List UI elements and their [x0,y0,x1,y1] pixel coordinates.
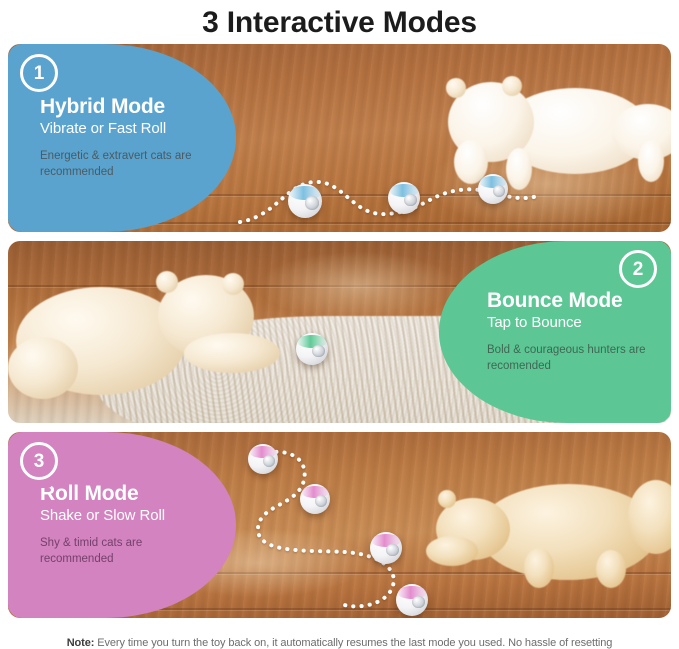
footer-note-text: Every time you turn the toy back on, it … [97,637,612,649]
toy-ball-1a [288,184,322,218]
infographic-root: 3 Interactive Modes [0,0,679,649]
mode-panel-1: Hybrid Mode Vibrate or Fast Roll Energet… [8,44,671,232]
toy-ball-2 [296,333,328,365]
toy-ball-3b [300,484,330,514]
mode-2-description: Bold & courageous hunters are recomended [487,343,665,375]
mode-panels: Hybrid Mode Vibrate or Fast Roll Energet… [0,44,679,618]
footer-note: Note: Every time you turn the toy back o… [0,627,679,649]
page-title: 3 Interactive Modes [0,0,679,44]
mode-panel-2: Bounce Mode Tap to Bounce Bold & courage… [8,241,671,423]
mode-3-description: Shy & timid cats are recommended [40,536,218,568]
mode-1-title: Hybrid Mode [40,95,236,119]
toy-ball-3d [396,584,428,616]
toy-ball-1b [388,182,420,214]
mode-number-badge-1: 1 [20,54,58,92]
toy-ball-1c [478,174,508,204]
toy-ball-3a [248,444,278,474]
toy-ball-3c [370,532,402,564]
footer-note-label: Note: [67,637,95,649]
mode-1-description: Energetic & extravert cats are recommend… [40,149,218,181]
mode-3-subtitle: Shake or Slow Roll [40,507,236,525]
mode-number-badge-2: 2 [619,250,657,288]
mode-2-subtitle: Tap to Bounce [487,314,671,332]
mode-panel-3: Roll Mode Shake or Slow Roll Shy & timid… [8,432,671,618]
mode-3-title: Roll Mode [40,482,236,506]
mode-number-badge-3: 3 [20,442,58,480]
mode-1-subtitle: Vibrate or Fast Roll [40,120,236,138]
